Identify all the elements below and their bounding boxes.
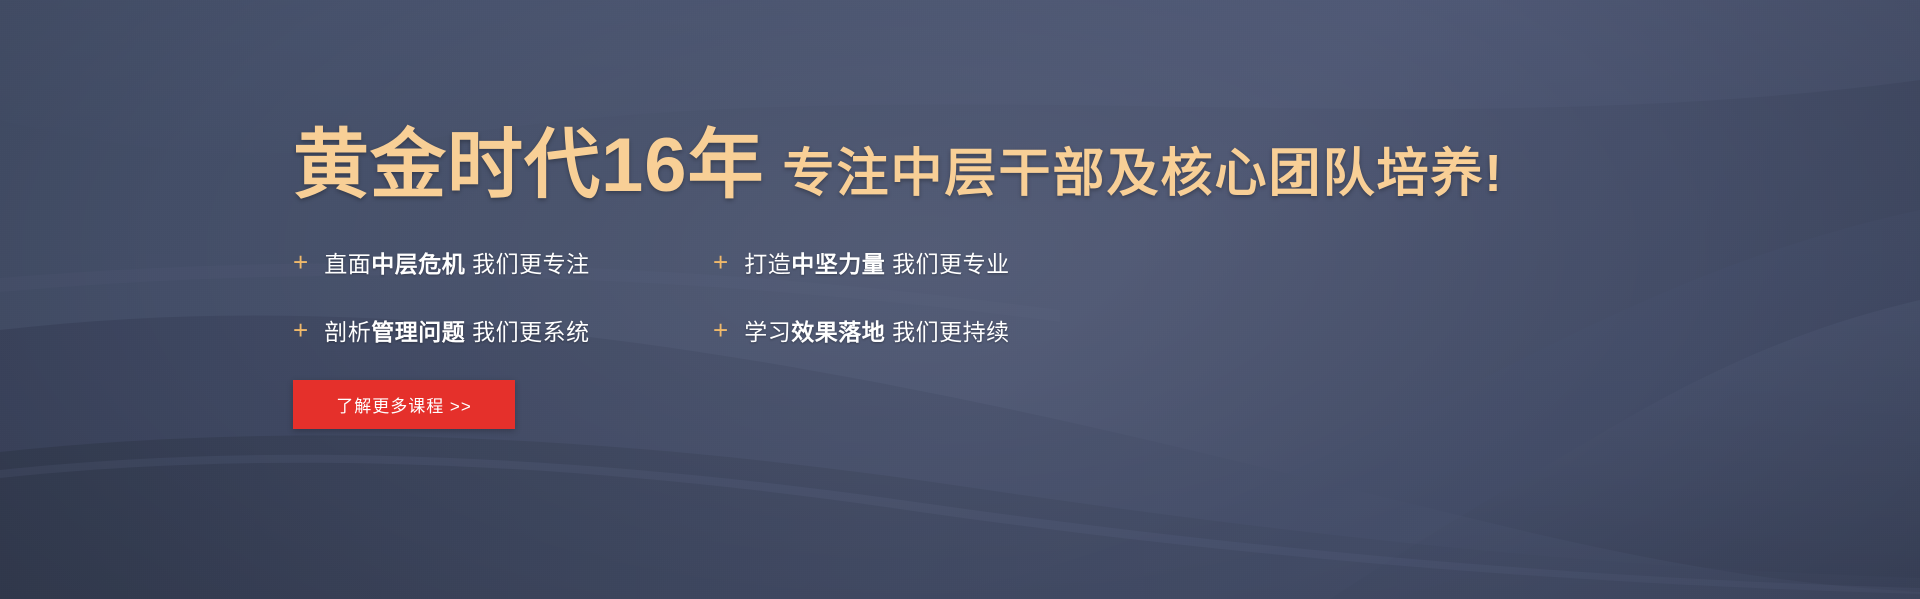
feature-bullet-text: 打造中坚力量 我们更专业: [744, 245, 1009, 279]
plus-icon: +: [713, 317, 728, 343]
plus-icon: +: [293, 249, 308, 275]
bullet-prefix: 直面: [324, 251, 371, 277]
bullet-emphasis: 中坚力量: [791, 251, 885, 277]
headline: 黄金时代16年专注中层干部及核心团队培养!: [293, 128, 1504, 204]
plus-icon: +: [713, 249, 728, 275]
plus-icon: +: [293, 317, 308, 343]
headline-secondary: 专注中层干部及核心团队培养!: [783, 145, 1504, 203]
cta-label: 了解更多课程 >>: [336, 392, 472, 417]
feature-bullet: + 直面中层危机 我们更专注: [293, 245, 713, 279]
feature-bullet-text: 学习效果落地 我们更持续: [744, 313, 1009, 347]
bullet-prefix: 剖析: [324, 319, 371, 345]
bullet-emphasis: 中层危机: [371, 251, 465, 277]
feature-bullet-list: + 直面中层危机 我们更专注 + 打造中坚力量 我们更专业 + 剖析管理问题 我…: [293, 228, 1053, 364]
bullet-suffix: 我们更专注: [465, 251, 589, 277]
bullet-suffix: 我们更专业: [885, 251, 1009, 277]
headline-primary: 黄金时代16年: [293, 123, 765, 208]
bullet-row: + 剖析管理问题 我们更系统 + 学习效果落地 我们更持续: [293, 296, 1053, 364]
feature-bullet: + 剖析管理问题 我们更系统: [293, 313, 713, 347]
bullet-emphasis: 效果落地: [791, 319, 885, 345]
bullet-prefix: 打造: [744, 251, 791, 277]
feature-bullet-text: 直面中层危机 我们更专注: [324, 245, 589, 279]
bullet-suffix: 我们更持续: [885, 319, 1009, 345]
banner-content: 黄金时代16年专注中层干部及核心团队培养! + 直面中层危机 我们更专注 + 打…: [0, 0, 1920, 599]
promo-banner: 黄金时代16年专注中层干部及核心团队培养! + 直面中层危机 我们更专注 + 打…: [0, 0, 1920, 599]
bullet-emphasis: 管理问题: [371, 319, 465, 345]
learn-more-courses-button[interactable]: 了解更多课程 >>: [293, 380, 515, 429]
bullet-suffix: 我们更系统: [465, 319, 589, 345]
feature-bullet-text: 剖析管理问题 我们更系统: [324, 313, 589, 347]
bullet-row: + 直面中层危机 我们更专注 + 打造中坚力量 我们更专业: [293, 228, 1053, 296]
bullet-prefix: 学习: [744, 319, 791, 345]
feature-bullet: + 打造中坚力量 我们更专业: [713, 245, 1053, 279]
feature-bullet: + 学习效果落地 我们更持续: [713, 313, 1053, 347]
